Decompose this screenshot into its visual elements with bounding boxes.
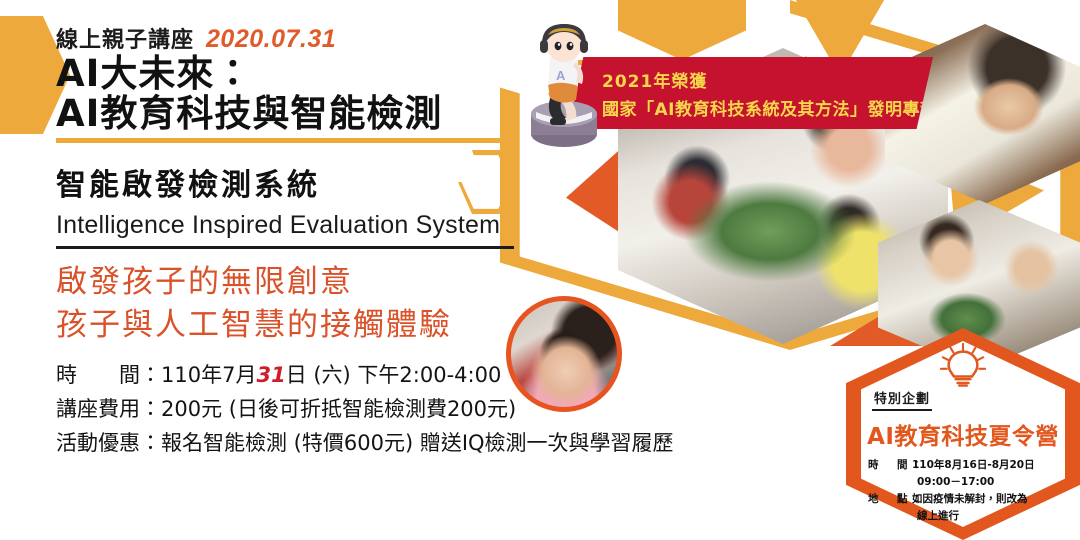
svg-text:A: A xyxy=(556,68,566,83)
detail-label-time: 時 間： xyxy=(56,363,161,387)
photo-child-headphones xyxy=(506,296,622,412)
camp-content: 特別企劃 AI教育科技夏令營 時 間： 110年8月16日-8月20日 09:0… xyxy=(846,328,1080,540)
camp-time-value2: 09:00－17:00 xyxy=(917,474,994,491)
camp-place-line: 地 點： 如因疫情未解封，則改為 xyxy=(868,491,1058,508)
detail-fee-value: 200元 (日後可折抵智能檢測費200元) xyxy=(161,397,516,421)
detail-time-before: 110年7月 xyxy=(161,363,256,387)
camp-title: AI教育科技夏令營 xyxy=(867,417,1059,451)
title-underline xyxy=(56,138,514,143)
detail-time-highlight: 31 xyxy=(256,363,285,387)
kicker-date: 2020.07.31 xyxy=(206,25,336,54)
camp-place-key: 地 點： xyxy=(868,491,912,508)
robot-mascot-icon: A xyxy=(516,22,612,154)
detail-row-promo: 活動優惠：報名智能檢測 (特價600元) 贈送IQ檢測一次與學習履歷 xyxy=(56,426,576,460)
page-title-line2: AI教育科技與智能檢測 xyxy=(56,94,576,134)
camp-place-line2: 線上進行 xyxy=(868,508,1058,525)
detail-label-fee: 講座費用： xyxy=(56,397,161,421)
camp-place-value: 如因疫情未解封，則改為 xyxy=(912,491,1028,508)
poster-root: A 2021年榮獲 國家「AI教育科技系統及其方法」發明專利 線上親子講 xyxy=(0,0,1080,540)
patent-banner-line2: 國家「AI教育科技系統及其方法」發明專利 xyxy=(602,95,933,120)
main-text-column: 線上親子講座 2020.07.31 AI大未來： AI教育科技與智能檢測 智能啟… xyxy=(56,22,576,460)
detail-label-promo: 活動優惠： xyxy=(56,431,161,455)
camp-special-label: 特別企劃 xyxy=(872,388,932,411)
detail-row-time: 時 間：110年7月31日 (六) 下午2:00-4:00 xyxy=(56,358,576,392)
system-name-en: Intelligence Inspired Evaluation System xyxy=(56,211,576,240)
summer-camp-card: 特別企劃 AI教育科技夏令營 時 間： 110年8月16日-8月20日 09:0… xyxy=(846,328,1080,540)
detail-time-after: 日 (六) 下午2:00-4:00 xyxy=(286,363,502,387)
event-kicker: 線上親子講座 2020.07.31 xyxy=(56,22,576,52)
kicker-label: 線上親子講座 xyxy=(56,22,194,54)
page-title: AI大未來： AI教育科技與智能檢測 xyxy=(56,54,576,134)
camp-time-key: 時 間： xyxy=(868,457,912,474)
camp-time-line: 時 間： 110年8月16日-8月20日 xyxy=(868,457,1058,474)
event-details: 時 間：110年7月31日 (六) 下午2:00-4:00 講座費用：200元 … xyxy=(56,358,576,460)
tagline: 啟發孩子的無限創意 孩子與人工智慧的接觸體驗 xyxy=(56,261,576,347)
patent-award-banner: 2021年榮獲 國家「AI教育科技系統及其方法」發明專利 xyxy=(568,57,933,129)
system-name-zh: 智能啟發檢測系統 xyxy=(56,160,576,204)
patent-banner-line1: 2021年榮獲 xyxy=(602,67,933,92)
camp-place-value2: 線上進行 xyxy=(917,508,959,525)
system-underline xyxy=(56,246,514,249)
tagline-line2: 孩子與人工智慧的接觸體驗 xyxy=(56,304,576,347)
camp-time-value: 110年8月16日-8月20日 xyxy=(912,457,1035,474)
tagline-line1: 啟發孩子的無限創意 xyxy=(56,261,576,304)
lightbulb-icon xyxy=(935,342,991,390)
page-title-line1: AI大未來： xyxy=(56,54,576,94)
detail-row-fee: 講座費用：200元 (日後可折抵智能檢測費200元) xyxy=(56,392,576,426)
detail-promo-value: 報名智能檢測 (特價600元) 贈送IQ檢測一次與學習履歷 xyxy=(161,431,674,455)
camp-info-lines: 時 間： 110年8月16日-8月20日 09:00－17:00 地 點： 如因… xyxy=(868,457,1058,525)
camp-time-line2: 09:00－17:00 xyxy=(868,474,1058,491)
